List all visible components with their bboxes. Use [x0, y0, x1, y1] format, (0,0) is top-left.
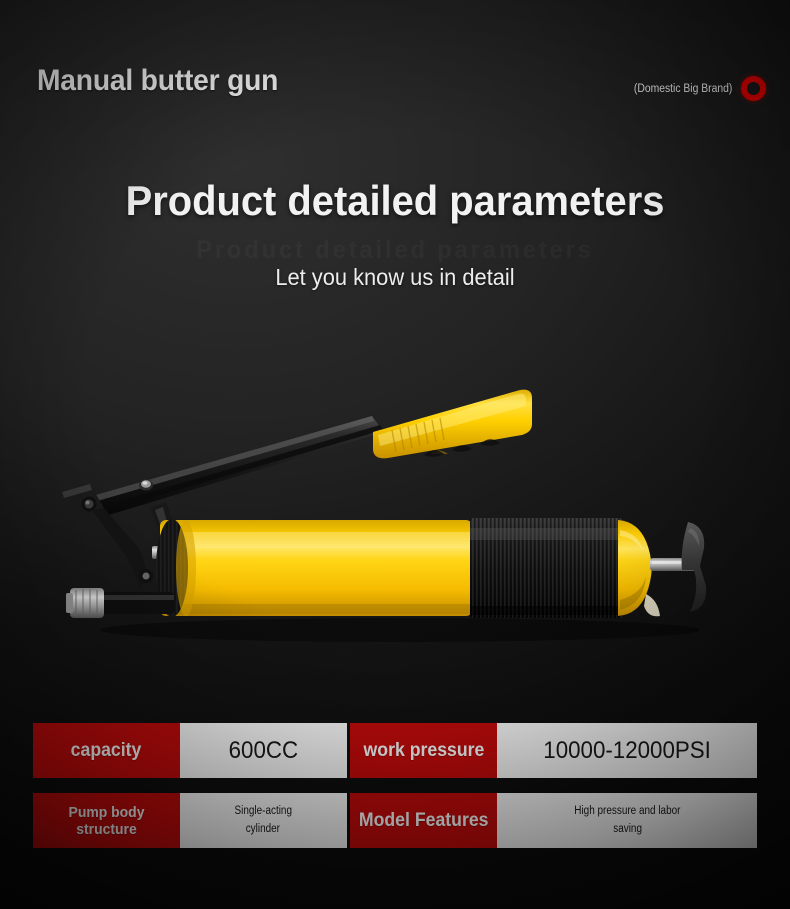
black-ribbed-sleeve — [470, 518, 622, 618]
spec-value-line-1: High pressure and labor — [574, 803, 680, 820]
t-handle-plunger — [650, 522, 706, 612]
brand-title: Manual butter gun — [37, 64, 278, 98]
product-image — [0, 380, 790, 650]
page-subtitle: Let you know us in detail — [20, 264, 771, 291]
spec-label-pump-body-structure: Pump body structure — [33, 793, 180, 848]
spec-row-1: capacity 600CC work pressure 10000-12000… — [33, 723, 757, 778]
brand-tagline: (Domestic Big Brand) — [634, 83, 732, 95]
spec-value-line-1: Single-acting — [235, 803, 293, 820]
chrome-nozzle-fitting — [66, 588, 174, 618]
hero-section: Product detailed parameters Product deta… — [0, 180, 790, 291]
ghost-watermark-text: Product detailed parameters — [20, 236, 771, 262]
spec-label-capacity: capacity — [33, 723, 180, 778]
spec-label-work-pressure: work pressure — [350, 723, 497, 778]
spec-value-pump-body-structure: Single-acting cylinder — [180, 793, 347, 848]
brand-badge: (Domestic Big Brand) — [623, 76, 766, 101]
red-ring-logo-icon — [741, 76, 766, 101]
spec-value-model-features: High pressure and labor saving — [497, 793, 757, 848]
page-header: Manual butter gun (Domestic Big Brand) — [0, 0, 790, 140]
spec-value-line-2: cylinder — [246, 821, 280, 838]
spec-table: capacity 600CC work pressure 10000-12000… — [33, 723, 757, 848]
spec-value-line-2: saving — [613, 821, 642, 838]
spec-label-model-features: Model Features — [350, 793, 497, 848]
yellow-barrel — [156, 519, 472, 617]
spec-value-capacity: 600CC — [180, 723, 347, 778]
product-detail-page: Manual butter gun (Domestic Big Brand) P… — [0, 0, 790, 909]
spec-value-work-pressure: 10000-12000PSI — [497, 723, 757, 778]
yellow-lever-grip — [373, 390, 532, 459]
spec-row-2: Pump body structure Single-acting cylind… — [33, 793, 757, 848]
page-title: Product detailed parameters — [20, 180, 771, 222]
